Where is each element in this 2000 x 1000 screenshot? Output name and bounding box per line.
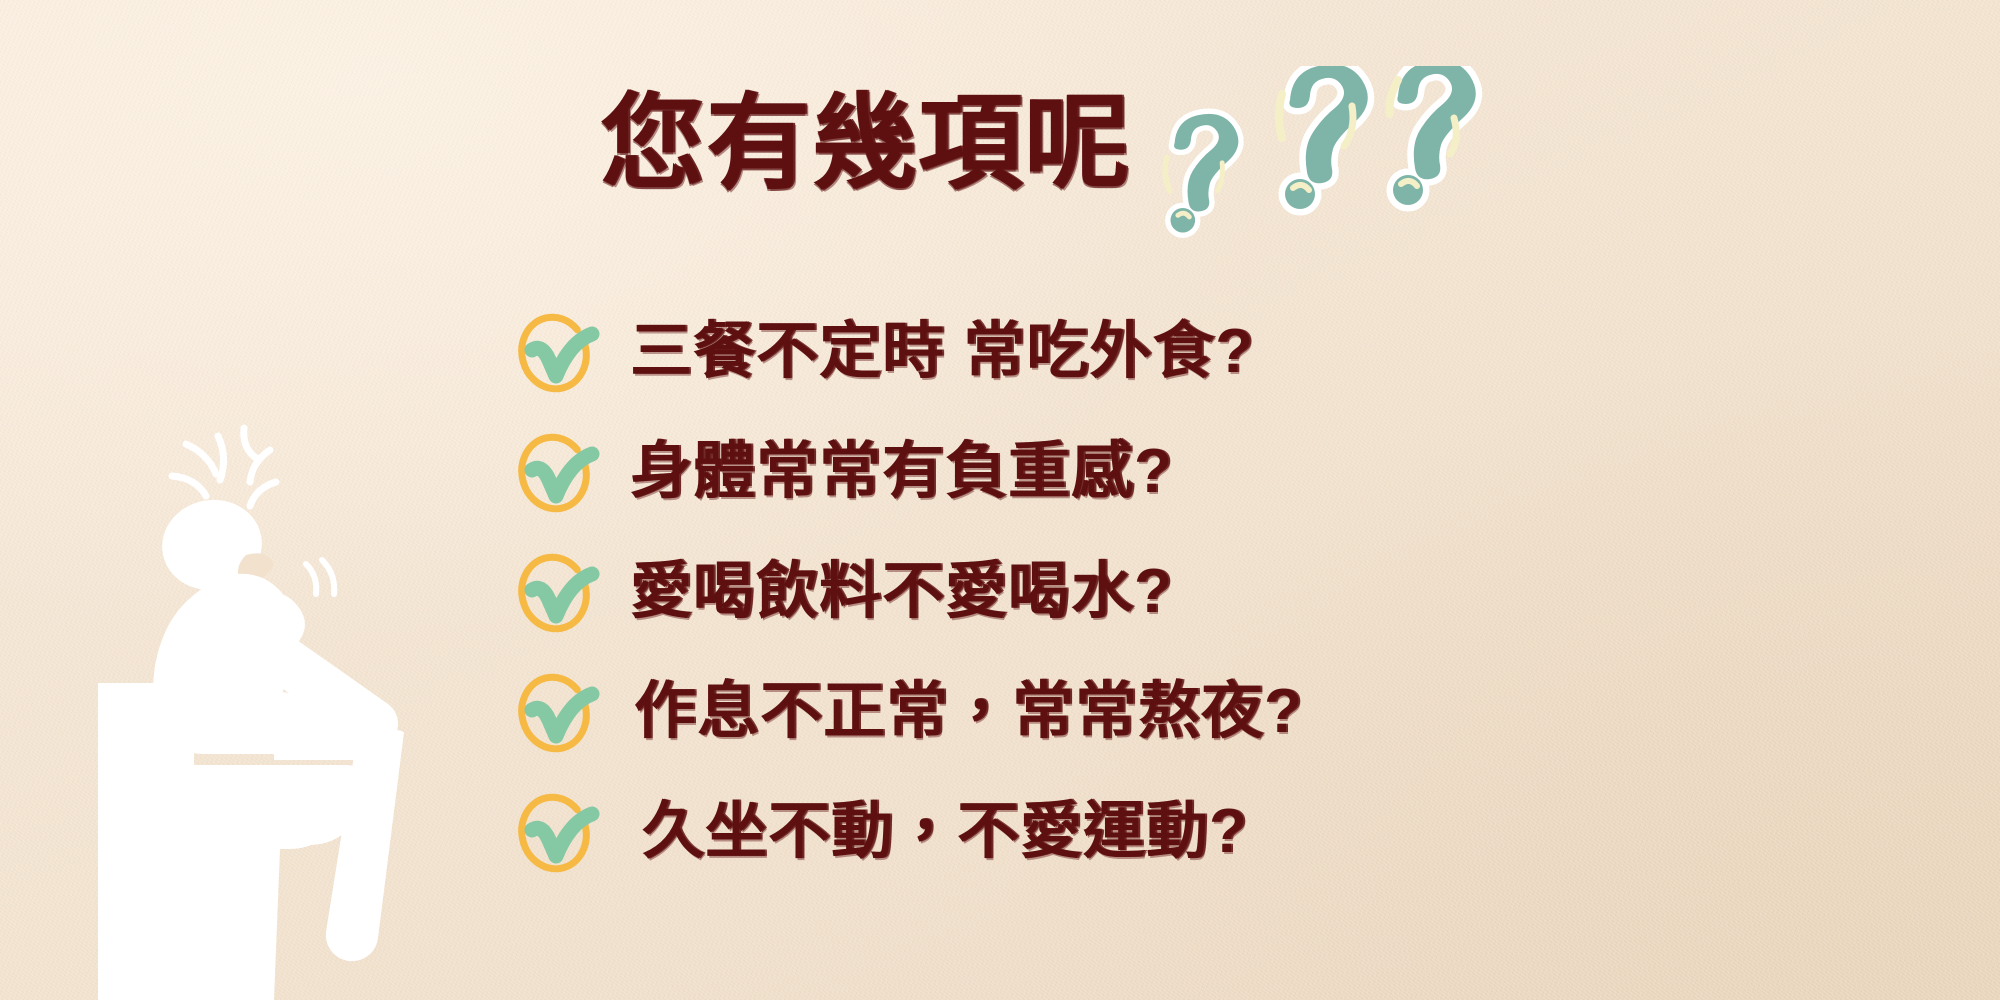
check-circle-icon[interactable] — [510, 786, 602, 878]
poster-canvas: 您有幾項呢 — [0, 0, 2000, 1000]
checklist-item-label: 身體常常有負重感? — [630, 441, 1173, 503]
question-marks-decoration — [1156, 66, 1486, 261]
checklist-item-label: 作息不正常，常常熬夜? — [634, 681, 1303, 743]
title-row: 您有幾項呢 — [600, 88, 1486, 261]
checklist-item-3[interactable]: 愛喝飲料不愛喝水? — [510, 545, 1303, 639]
checklist-item-1[interactable]: 三餐不定時 常吃外食? — [510, 305, 1303, 399]
symptom-checklist: 三餐不定時 常吃外食? 身體常常有負重感? 愛喝飲料不愛喝水? — [510, 305, 1303, 879]
check-circle-icon[interactable] — [510, 426, 602, 518]
check-circle-icon[interactable] — [510, 546, 602, 638]
person-straining-on-toilet-icon — [60, 400, 480, 1000]
checklist-item-label: 久坐不動，不愛運動? — [642, 801, 1248, 863]
check-circle-icon[interactable] — [510, 306, 602, 398]
checklist-item-label: 三餐不定時 常吃外食? — [630, 321, 1254, 383]
check-circle-icon[interactable] — [510, 666, 602, 758]
checklist-item-label: 愛喝飲料不愛喝水? — [630, 561, 1173, 623]
checklist-item-5[interactable]: 久坐不動，不愛運動? — [510, 785, 1303, 879]
checklist-item-4[interactable]: 作息不正常，常常熬夜? — [510, 665, 1303, 759]
checklist-item-2[interactable]: 身體常常有負重感? — [510, 425, 1303, 519]
page-title: 您有幾項呢 — [600, 88, 1130, 200]
